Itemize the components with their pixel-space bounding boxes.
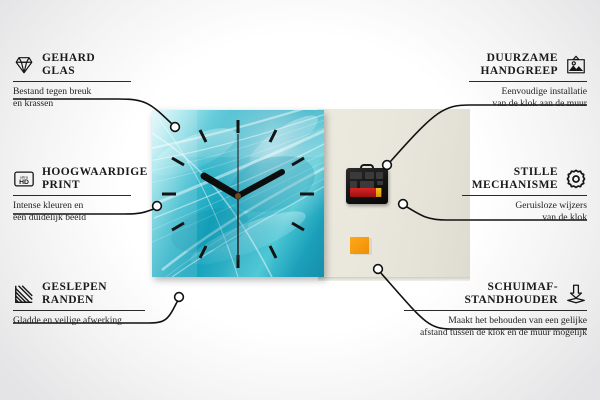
- callout-divider: [13, 81, 131, 82]
- svg-text:HD: HD: [19, 179, 29, 186]
- callout-sub-line1: Maakt het behouden van een gelijke: [404, 315, 587, 327]
- callout-title-line1: GEHARD: [42, 52, 95, 65]
- arrow-down-stack-icon: [565, 283, 587, 305]
- callout-sub-line2: een duidelijk beeld: [13, 212, 131, 224]
- ultra-hd-icon: ultra HD: [13, 168, 35, 190]
- feature-callout-high-quality-print: ultra HD HOOGWAARDIGE PRINT Intense kleu…: [13, 166, 131, 224]
- callout-sub-line2: afstand tussen de klok en de muur mogeli…: [404, 327, 587, 339]
- callout-divider: [469, 81, 587, 82]
- callout-divider: [462, 195, 587, 196]
- infographic-stage: GEHARD GLAS Bestand tegen breuk en krass…: [0, 0, 600, 400]
- callout-title-line2: PRINT: [42, 179, 148, 192]
- callout-title-line2: STANDHOUDER: [464, 294, 558, 307]
- beveled-edge-icon: [13, 283, 35, 305]
- picture-frame-icon: [565, 54, 587, 76]
- callout-sub-line1: Intense kleuren en: [13, 200, 131, 212]
- callout-sub-line2: en krassen: [13, 98, 131, 110]
- connector-nodes: [153, 123, 408, 302]
- feature-callout-silent-mechanism: STILLE MECHANISME Geruisloze wijzers van…: [462, 166, 587, 224]
- callout-sub-line1: Gladde en veilige afwerking: [13, 315, 145, 327]
- callout-sub-line2: van de klok aan de muur: [469, 98, 587, 110]
- diamond-icon: [13, 54, 35, 76]
- callout-title-line2: MECHANISME: [472, 179, 558, 192]
- feature-callout-tempered-glass: GEHARD GLAS Bestand tegen breuk en krass…: [13, 52, 131, 110]
- feature-callout-foam-spacer: SCHUIMAF- STANDHOUDER Maakt het behouden…: [404, 281, 587, 339]
- callout-title-line2: GLAS: [42, 65, 95, 78]
- callout-divider: [13, 310, 145, 311]
- callout-title-line1: STILLE: [472, 166, 558, 179]
- feature-callout-polished-edges: GESLEPEN RANDEN Gladde en veilige afwerk…: [13, 281, 145, 327]
- callout-sub-line1: Bestand tegen breuk: [13, 86, 131, 98]
- callout-sub-line1: Eenvoudige installatie: [469, 86, 587, 98]
- callout-divider: [404, 310, 587, 311]
- callout-title-line2: HANDGREEP: [480, 65, 558, 78]
- callout-divider: [13, 195, 131, 196]
- callout-title-line1: DUURZAME: [480, 52, 558, 65]
- callout-sub-line1: Geruisloze wijzers: [462, 200, 587, 212]
- callout-title-line1: GESLEPEN: [42, 281, 107, 294]
- callout-title-line1: SCHUIMAF-: [464, 281, 558, 294]
- feature-callout-durable-hanger: DUURZAME HANDGREEP Eenvoudige installati…: [469, 52, 587, 110]
- callout-sub-line2: van de klok: [462, 212, 587, 224]
- callout-title-line2: RANDEN: [42, 294, 107, 307]
- callout-title-line1: HOOGWAARDIGE: [42, 166, 148, 179]
- gear-icon: [565, 168, 587, 190]
